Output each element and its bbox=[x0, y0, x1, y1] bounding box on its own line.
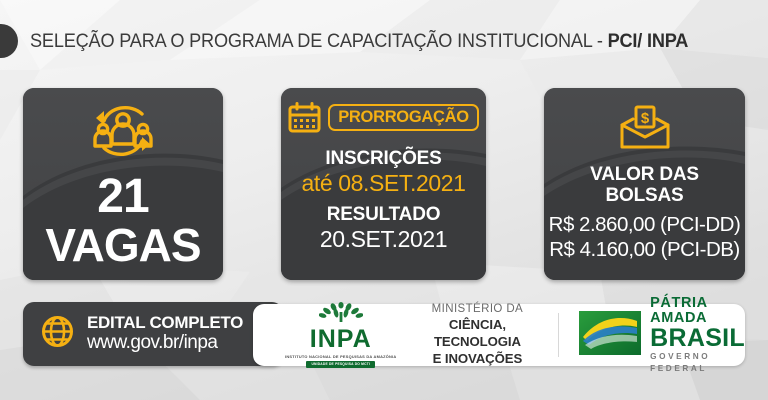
prorrogacao-badge: PRORROGAÇÃO bbox=[328, 104, 479, 131]
globe-icon bbox=[41, 315, 74, 353]
resultado-date: 20.SET.2021 bbox=[320, 226, 447, 252]
footer: EDITAL COMPLETO www.gov.br/inpa bbox=[0, 302, 768, 374]
brasil-logo: PÁTRIA AMADA BRASIL GOVERNO FEDERAL bbox=[579, 296, 745, 374]
inscricoes-date: até 08.SET.2021 bbox=[301, 170, 465, 196]
inscricoes-label: INSCRIÇÕES bbox=[325, 148, 441, 169]
ministerio-line-3: E INOVAÇÕES bbox=[418, 351, 536, 368]
card-bolsas: $ VALOR DAS BOLSAS R$ 2.860,00 (PCI-DD) … bbox=[544, 88, 745, 280]
bolsas-label-1: VALOR DAS bbox=[590, 164, 699, 185]
bolsas-value-db: R$ 4.160,00 (PCI-DB) bbox=[549, 237, 740, 262]
card-vagas-content: 21 VAGAS bbox=[23, 88, 223, 280]
page-title-main: SELEÇÃO PARA O PROGRAMA DE CAPACITAÇÃO I… bbox=[30, 30, 608, 52]
inpa-logo: INPA INSTITUTO NACIONAL DE PESQUISAS DA … bbox=[285, 302, 396, 367]
inpa-tag: UNIDADE DE PESQUISA DO MCTI bbox=[306, 361, 375, 367]
inpa-plant-icon bbox=[319, 302, 363, 327]
card-vagas: 21 VAGAS bbox=[23, 88, 223, 280]
edital-panel[interactable]: EDITAL COMPLETO www.gov.br/inpa bbox=[23, 302, 283, 366]
card-inscricoes-content: PRORROGAÇÃO INSCRIÇÕES até 08.SET.2021 R… bbox=[281, 88, 486, 280]
cards-row: 21 VAGAS bbox=[0, 88, 768, 280]
rounded-pill-marker-icon bbox=[0, 24, 18, 58]
edital-title: EDITAL COMPLETO bbox=[87, 313, 243, 333]
bolsas-label-2: BOLSAS bbox=[606, 185, 684, 206]
vagas-label: VAGAS bbox=[45, 222, 200, 268]
ministerio-line-2: CIÊNCIA, TECNOLOGIA bbox=[418, 317, 536, 351]
card-inscricoes: PRORROGAÇÃO INSCRIÇÕES até 08.SET.2021 R… bbox=[281, 88, 486, 280]
logo-divider bbox=[558, 313, 559, 357]
inpa-subtitle: INSTITUTO NACIONAL DE PESQUISAS DA AMAZÔ… bbox=[285, 354, 396, 360]
header: SELEÇÃO PARA O PROGRAMA DE CAPACITAÇÃO I… bbox=[0, 18, 768, 64]
poster-canvas: SELEÇÃO PARA O PROGRAMA DE CAPACITAÇÃO I… bbox=[0, 0, 768, 400]
page-title: SELEÇÃO PARA O PROGRAMA DE CAPACITAÇÃO I… bbox=[30, 30, 688, 53]
brasil-line-1: PÁTRIA AMADA bbox=[650, 296, 745, 326]
brasil-flag-icon bbox=[579, 311, 641, 360]
logos-panel: INPA INSTITUTO NACIONAL DE PESQUISAS DA … bbox=[253, 304, 745, 366]
bolsas-value-dd: R$ 2.860,00 (PCI-DD) bbox=[549, 212, 741, 237]
ministerio-block: MINISTÉRIO DA CIÊNCIA, TECNOLOGIA E INOV… bbox=[418, 302, 536, 368]
resultado-label: RESULTADO bbox=[327, 204, 441, 225]
page-title-bold: PCI/ INPA bbox=[608, 30, 689, 52]
edital-text: EDITAL COMPLETO www.gov.br/inpa bbox=[87, 313, 243, 355]
badge-row: PRORROGAÇÃO bbox=[288, 102, 479, 133]
money-envelope-icon: $ bbox=[619, 104, 671, 152]
brasil-line-2: BRASIL bbox=[650, 326, 745, 351]
calendar-icon bbox=[288, 102, 321, 133]
edital-url[interactable]: www.gov.br/inpa bbox=[87, 332, 243, 355]
brasil-text: PÁTRIA AMADA BRASIL GOVERNO FEDERAL bbox=[650, 296, 745, 374]
brasil-line-3: GOVERNO FEDERAL bbox=[650, 351, 745, 374]
card-bolsas-content: $ VALOR DAS BOLSAS R$ 2.860,00 (PCI-DD) … bbox=[544, 88, 745, 280]
vagas-number: 21 bbox=[97, 174, 148, 220]
svg-text:$: $ bbox=[640, 110, 649, 127]
people-recycle-icon bbox=[84, 102, 162, 160]
ministerio-line-1: MINISTÉRIO DA bbox=[418, 302, 536, 318]
inpa-acronym: INPA bbox=[310, 328, 372, 352]
